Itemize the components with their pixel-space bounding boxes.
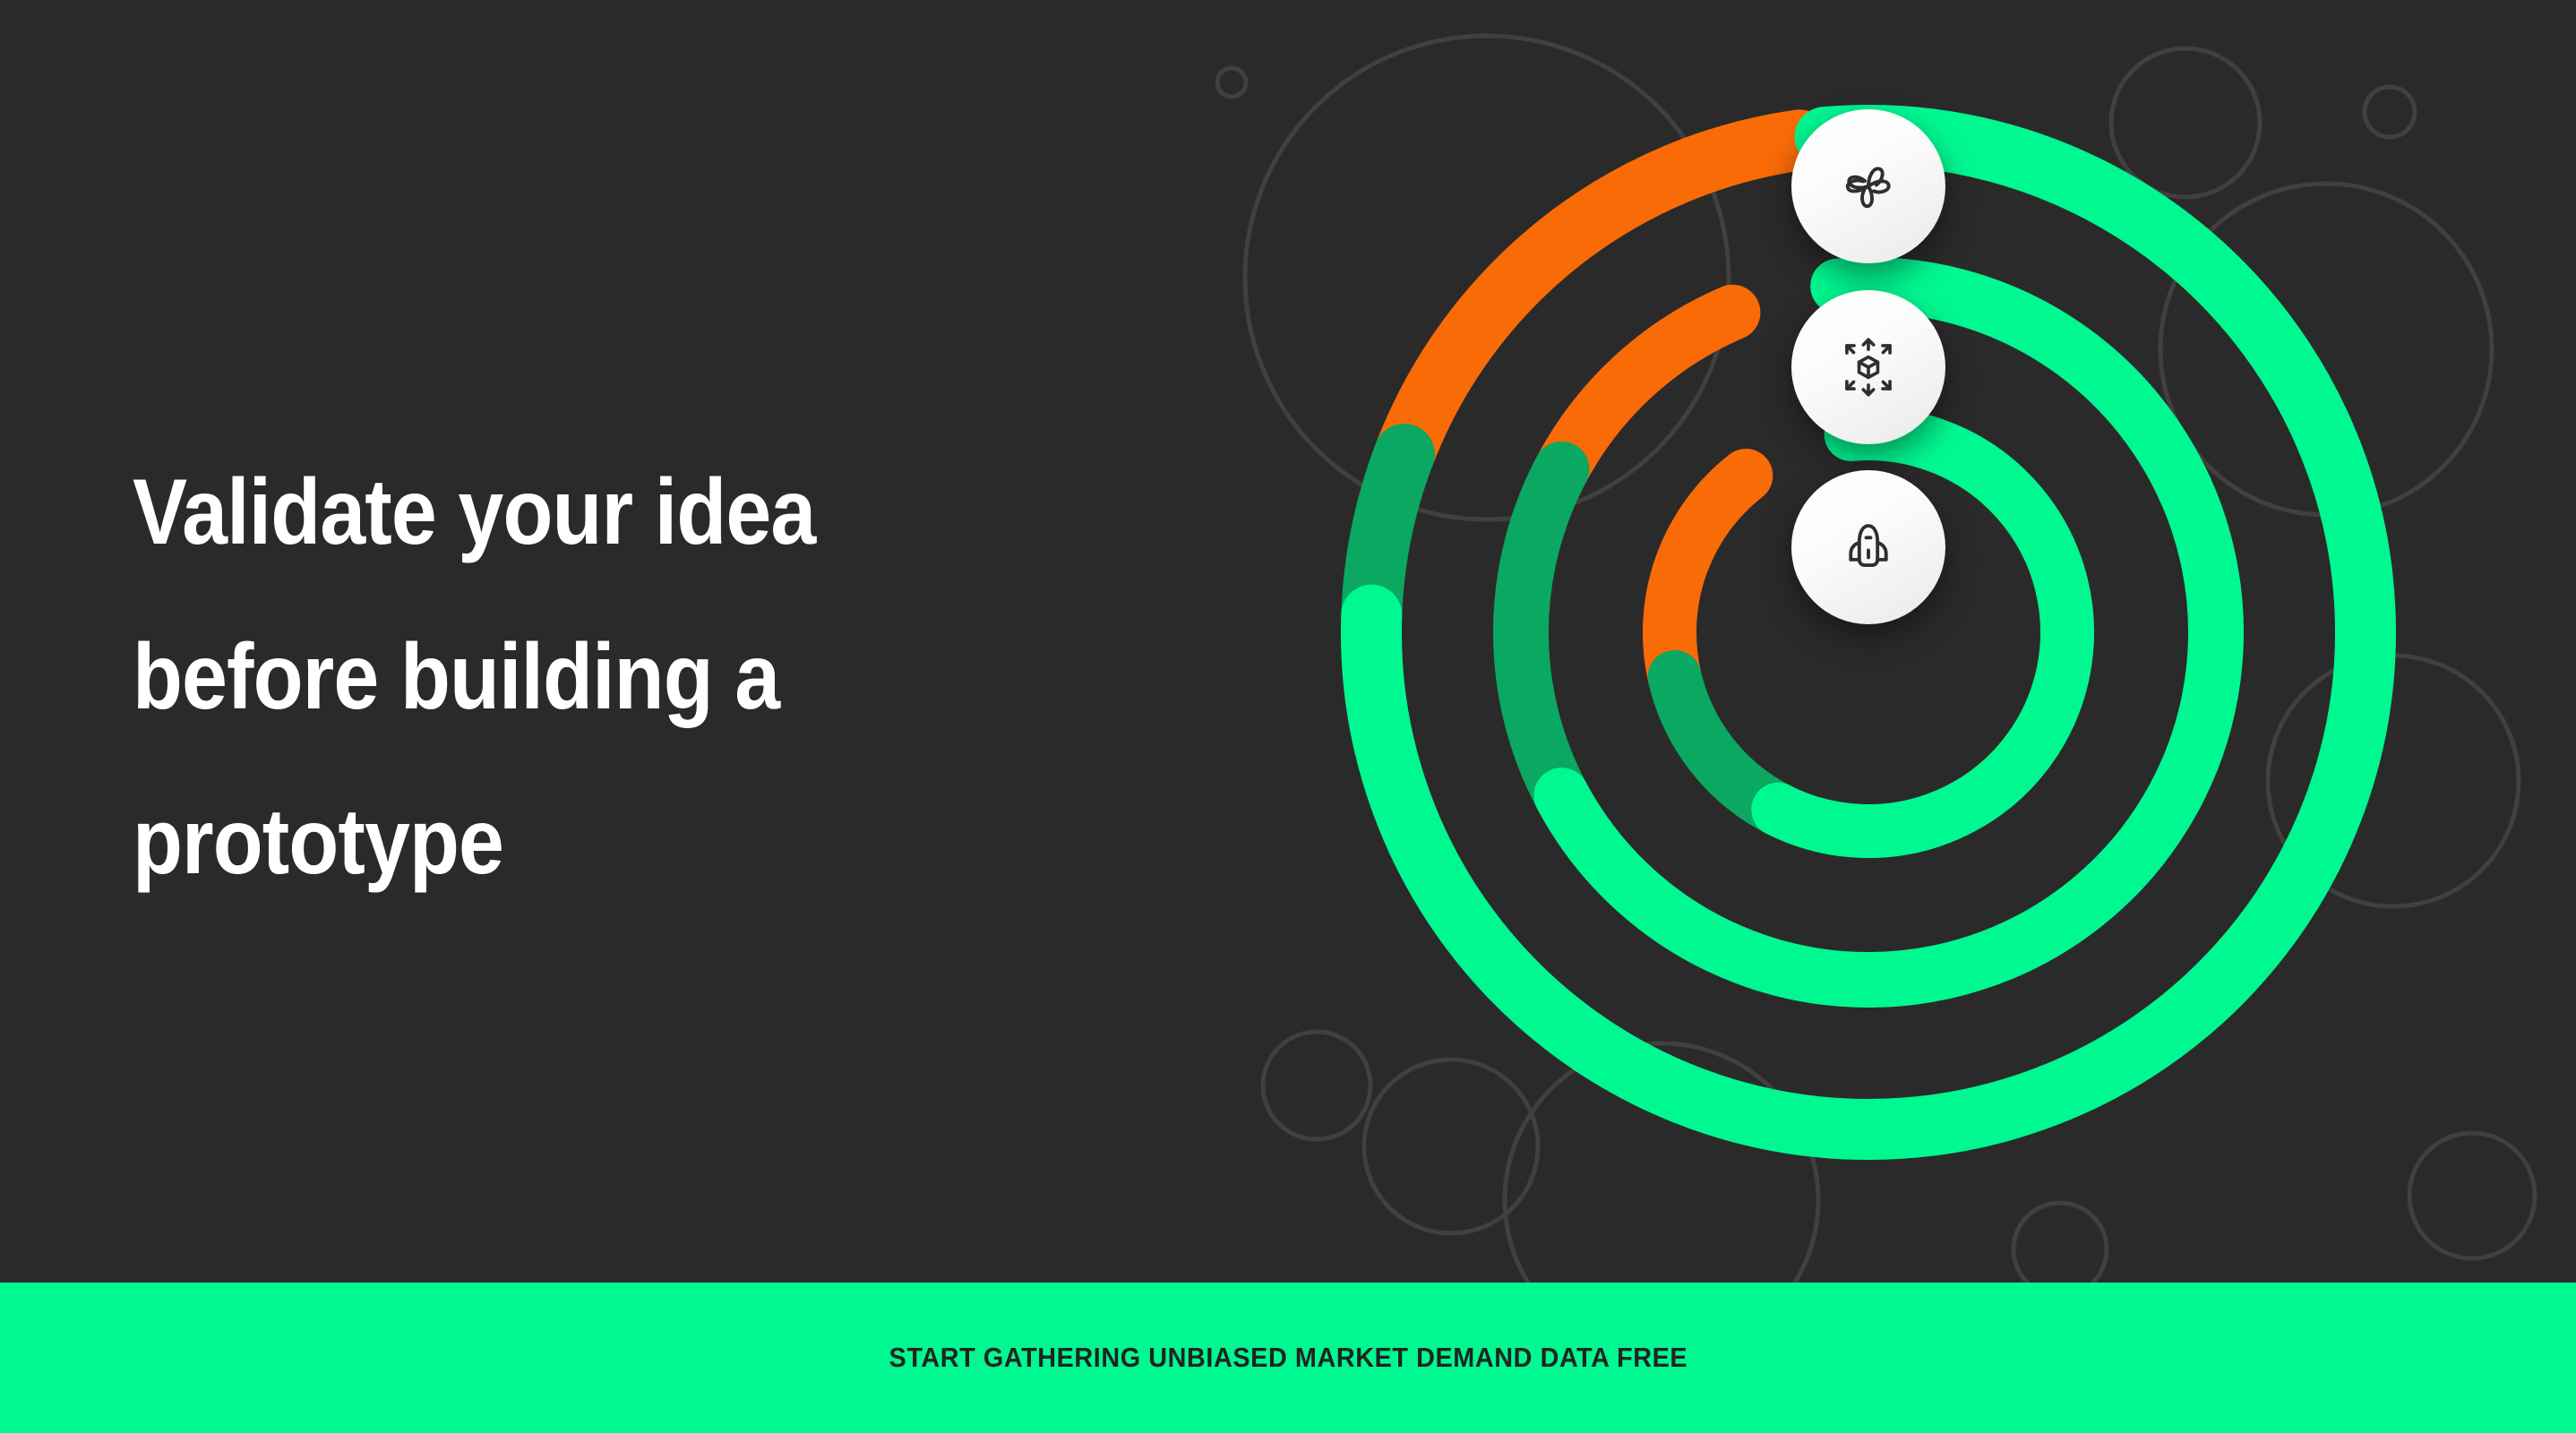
headline: Validate your idea before building a pro… <box>133 430 1136 924</box>
inner-ring-orange-arc <box>1670 476 1746 677</box>
middle-ring-mid-green-arc <box>1521 469 1561 795</box>
pinwheel-swirl-icon <box>1836 154 1901 219</box>
badge-3d-cube[interactable] <box>1791 290 1945 444</box>
headline-line-3: prototype <box>133 759 1016 924</box>
cta-banner-text: START GATHERING UNBIASED MARKET DEMAND D… <box>889 1342 1687 1374</box>
3d-cube-expand-icon <box>1834 333 1902 401</box>
badge-pinwheel[interactable] <box>1791 109 1945 263</box>
promo-banner-stage: Validate your idea before building a pro… <box>0 0 2576 1433</box>
headline-line-1: Validate your idea <box>133 430 1016 595</box>
badge-rocket[interactable] <box>1791 470 1945 624</box>
decorative-circle <box>1217 68 1246 97</box>
cta-banner[interactable]: START GATHERING UNBIASED MARKET DEMAND D… <box>0 1283 2576 1433</box>
middle-ring-orange-arc <box>1561 313 1732 469</box>
headline-line-2: before building a <box>133 595 1016 759</box>
rocket-icon <box>1835 514 1902 580</box>
